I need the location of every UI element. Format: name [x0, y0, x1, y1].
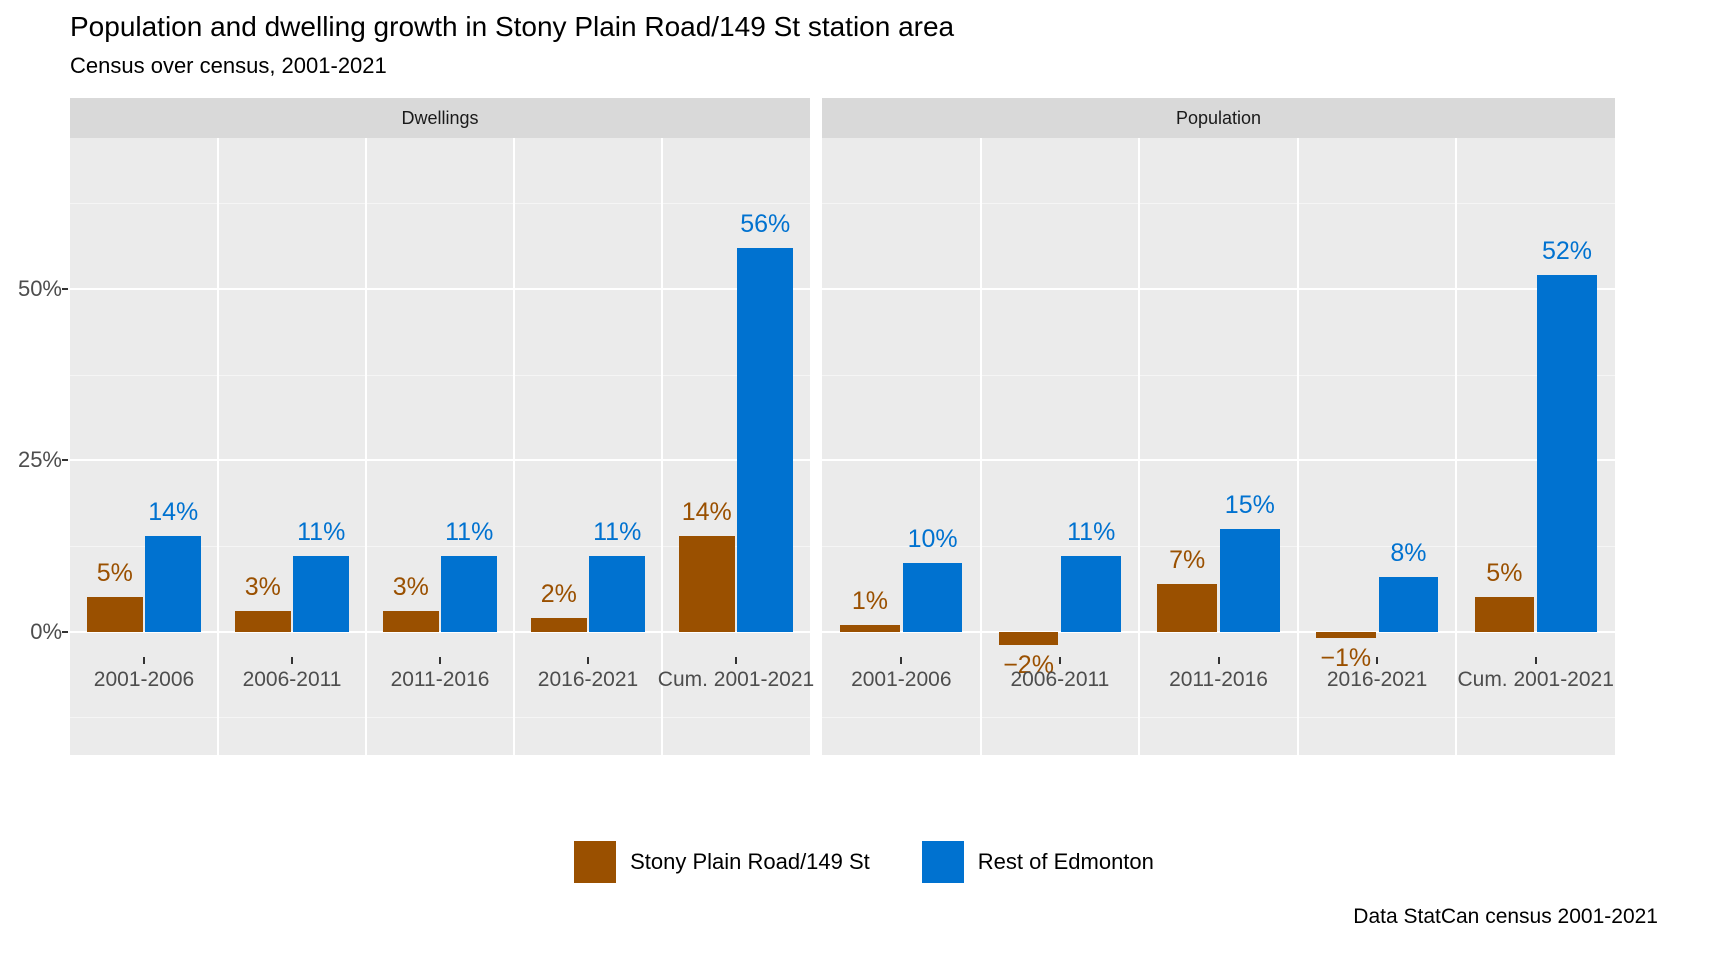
x-tick-mark: [1218, 657, 1220, 664]
x-tick-label: 2001-2006: [94, 668, 194, 692]
facet-strip-label: Population: [1176, 108, 1261, 129]
gridline-minor: [822, 203, 1615, 204]
bar-value-label: 2%: [541, 580, 577, 609]
x-tick-mark: [1059, 657, 1061, 664]
bar[interactable]: [1157, 584, 1216, 632]
y-tick-mark: [62, 459, 68, 461]
x-tick-mark: [900, 657, 902, 664]
bar[interactable]: [1220, 529, 1279, 632]
x-tick-label: 2016-2021: [1327, 668, 1427, 692]
facet-strip-dwellings: Dwellings: [70, 98, 810, 138]
y-tick-label: 50%: [18, 276, 62, 302]
legend-item[interactable]: Stony Plain Road/149 St: [574, 841, 870, 883]
legend-label: Stony Plain Road/149 St: [630, 849, 870, 875]
gridline-major: [822, 459, 1615, 461]
x-tick-label: 2001-2006: [851, 668, 951, 692]
x-tick-mark: [1376, 657, 1378, 664]
x-tick-mark: [587, 657, 589, 664]
bar-value-label: 15%: [1225, 491, 1275, 520]
gridline-minor: [822, 717, 1615, 718]
bar[interactable]: [1379, 577, 1438, 632]
x-tick-mark: [143, 657, 145, 664]
legend-item[interactable]: Rest of Edmonton: [922, 841, 1154, 883]
bar[interactable]: [737, 248, 793, 632]
bar-value-label: 11%: [593, 518, 641, 547]
bar-value-label: 7%: [1169, 546, 1205, 575]
bar[interactable]: [999, 632, 1058, 646]
bar[interactable]: [145, 536, 201, 632]
x-tick-label: 2011-2016: [1169, 668, 1268, 692]
legend-label: Rest of Edmonton: [978, 849, 1154, 875]
bar-value-label: 52%: [1542, 237, 1592, 266]
gridline-major: [822, 288, 1615, 290]
bar[interactable]: [441, 556, 497, 631]
gridline-minor: [822, 375, 1615, 376]
x-tick-label: Cum. 2001-2021: [1457, 668, 1613, 692]
bar[interactable]: [840, 625, 899, 632]
bar-value-label: 14%: [682, 498, 732, 527]
bar[interactable]: [1061, 556, 1120, 631]
bar-value-label: 3%: [393, 573, 429, 602]
page-title: Population and dwelling growth in Stony …: [70, 10, 954, 44]
bar[interactable]: [1537, 275, 1596, 631]
bar[interactable]: [383, 611, 439, 632]
bar[interactable]: [293, 556, 349, 631]
x-axis-dwellings: 2001-20062006-20112011-20162016-2021Cum.…: [70, 657, 810, 703]
legend-swatch: [574, 841, 616, 883]
gridline-major: [70, 288, 810, 290]
x-tick-label: Cum. 2001-2021: [658, 668, 814, 692]
bar[interactable]: [903, 563, 962, 632]
y-tick-label: 0%: [30, 619, 62, 645]
legend-swatch: [922, 841, 964, 883]
bar-value-label: 56%: [740, 210, 790, 239]
x-tick-mark: [1535, 657, 1537, 664]
x-axis-population: 2001-20062006-20112011-20162016-2021Cum.…: [822, 657, 1615, 703]
x-tick-label: 2016-2021: [538, 668, 638, 692]
bar[interactable]: [589, 556, 645, 631]
y-tick-label: 25%: [18, 447, 62, 473]
bar[interactable]: [1475, 597, 1534, 631]
facet-strip-population: Population: [822, 98, 1615, 138]
bar-value-label: 14%: [148, 498, 198, 527]
x-tick-label: 2011-2016: [391, 668, 490, 692]
gridline-minor: [70, 375, 810, 376]
x-tick-mark: [735, 657, 737, 664]
bar[interactable]: [235, 611, 291, 632]
bar-value-label: 11%: [1067, 518, 1115, 547]
chart-subtitle: Census over census, 2001-2021: [70, 52, 387, 80]
bar-value-label: 11%: [297, 518, 345, 547]
chart-caption: Data StatCan census 2001-2021: [1353, 905, 1658, 929]
bar-value-label: 11%: [445, 518, 493, 547]
bar-value-label: 8%: [1390, 539, 1426, 568]
x-tick-label: 2006-2011: [243, 668, 342, 692]
bar-value-label: 10%: [908, 525, 958, 554]
bar[interactable]: [87, 597, 143, 631]
gridline-minor: [70, 717, 810, 718]
bar-value-label: 5%: [1486, 559, 1522, 588]
facet-strip-label: Dwellings: [401, 108, 478, 129]
y-axis: 0%25%50%: [0, 98, 62, 755]
gridline-minor: [70, 203, 810, 204]
legend: Stony Plain Road/149 StRest of Edmonton: [0, 838, 1728, 886]
x-tick-mark: [439, 657, 441, 664]
bar[interactable]: [531, 618, 587, 632]
x-tick-mark: [291, 657, 293, 664]
x-tick-label: 2006-2011: [1010, 668, 1109, 692]
gridline-major: [70, 459, 810, 461]
bar-value-label: 1%: [852, 587, 888, 616]
bar[interactable]: [1316, 632, 1375, 639]
bar-value-label: 3%: [245, 573, 281, 602]
y-tick-mark: [62, 631, 68, 633]
bar[interactable]: [679, 536, 735, 632]
y-tick-mark: [62, 288, 68, 290]
bar-value-label: 5%: [97, 559, 133, 588]
